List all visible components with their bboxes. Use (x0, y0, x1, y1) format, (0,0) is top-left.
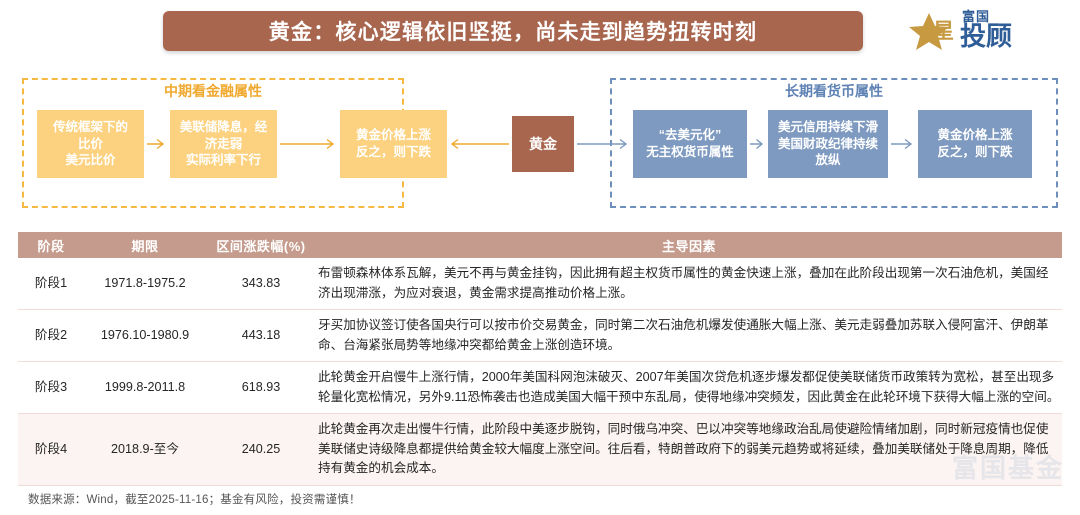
table-row: 阶段1 1971.8-1975.2 343.83 布雷顿森林体系瓦解，美元不再与… (18, 258, 1062, 310)
flow-arrow-center-to-mid (450, 138, 510, 150)
cell-period: 1971.8-1975.2 (84, 258, 206, 310)
page-title: 黄金：核心逻辑依旧坚挺，尚未走到趋势扭转时刻 (269, 16, 757, 46)
column-header-change: 区间涨跌幅(%) (206, 232, 316, 258)
flow-node-long-1-line1: “去美元化” (659, 128, 722, 142)
flow-node-long-3-line2: 反之，则下跌 (937, 145, 1012, 159)
arrow-right-icon (749, 138, 766, 150)
flow-node-mid-3-line1: 黄金价格上涨 (356, 128, 431, 142)
flow-node-mid-2-line1: 美联储降息，经 (180, 120, 268, 134)
flow-node-center-gold: 黄金 (512, 116, 574, 172)
cell-factor: 此轮黄金开启慢牛上涨行情，2000年美国科网泡沫破灭、2007年美国次贷危机逐步… (316, 362, 1062, 414)
table-header-row: 阶段 期限 区间涨跌幅(%) 主导因素 (18, 232, 1062, 258)
arrow-left-icon (450, 138, 510, 150)
flow-arrow-mid-1 (146, 138, 168, 150)
flow-node-long-2-line1: 美元信用持续下滑 (778, 120, 878, 134)
flow-node-mid-2-line2: 济走弱 (205, 137, 243, 151)
flow-node-long-1: “去美元化” 无主权货币属性 (633, 110, 747, 178)
flow-arrow-long-2 (890, 138, 916, 150)
source-footnote: 数据来源：Wind，截至2025-11-16；基金有风险，投资需谨慎！ (28, 491, 361, 507)
logo-brand-large: 投顾 (960, 23, 1012, 49)
cell-change: 240.25 (206, 414, 316, 486)
flow-node-long-2-line3: 放纵 (815, 153, 840, 167)
flow-arrow-center-to-long (576, 138, 631, 150)
brand-logo: 星 富国 投顾 (906, 8, 1066, 54)
flow-node-long-1-line2: 无主权货币属性 (646, 145, 734, 159)
arrow-right-icon (146, 138, 168, 150)
arrow-right-icon (576, 138, 631, 150)
phases-table: 阶段 期限 区间涨跌幅(%) 主导因素 阶段1 1971.8-1975.2 34… (18, 232, 1062, 486)
cell-change: 618.93 (206, 362, 316, 414)
flow-group-mid-term-title: 中期看金融属性 (24, 78, 402, 104)
column-header-stage: 阶段 (18, 232, 84, 258)
flow-diagram: 中期看金融属性 长期看货币属性 传统框架下的 比价 美元比价 美联储降息，经 济… (0, 70, 1080, 215)
flow-node-mid-1-line3: 美元比价 (65, 153, 115, 167)
cell-stage: 阶段2 (18, 310, 84, 362)
cell-period: 1976.10-1980.9 (84, 310, 206, 362)
cell-factor: 布雷顿森林体系瓦解，美元不再与黄金挂钩，因此拥有超主权货币属性的黄金快速上涨，叠… (316, 258, 1062, 310)
title-banner: 黄金：核心逻辑依旧坚挺，尚未走到趋势扭转时刻 (163, 11, 863, 51)
table-header: 阶段 期限 区间涨跌幅(%) 主导因素 (18, 232, 1062, 258)
page-header: 黄金：核心逻辑依旧坚挺，尚未走到趋势扭转时刻 星 富国 投顾 (0, 0, 1080, 68)
table-body: 阶段1 1971.8-1975.2 343.83 布雷顿森林体系瓦解，美元不再与… (18, 258, 1062, 485)
column-header-period: 期限 (84, 232, 206, 258)
flow-node-center-label: 黄金 (529, 135, 557, 154)
flow-node-mid-2: 美联储降息，经 济走弱 实际利率下行 (170, 110, 277, 178)
flow-group-long-term-title: 长期看货币属性 (612, 78, 1056, 104)
cell-factor: 牙买加协议签订使各国央行可以按市价交易黄金，同时第二次石油危机爆发使通胀大幅上涨… (316, 310, 1062, 362)
table-row: 阶段3 1999.8-2011.8 618.93 此轮黄金开启慢牛上涨行情，20… (18, 362, 1062, 414)
flow-node-long-3-line1: 黄金价格上涨 (937, 128, 1012, 142)
cell-stage: 阶段3 (18, 362, 84, 414)
flow-node-mid-1: 传统框架下的 比价 美元比价 (37, 110, 144, 178)
cell-period: 2018.9-至今 (84, 414, 206, 486)
cell-change: 443.18 (206, 310, 316, 362)
flow-arrow-mid-2 (279, 138, 338, 150)
flow-node-mid-3: 黄金价格上涨 反之，则下跌 (340, 110, 447, 178)
cell-period: 1999.8-2011.8 (84, 362, 206, 414)
phases-table-container: 阶段 期限 区间涨跌幅(%) 主导因素 阶段1 1971.8-1975.2 34… (18, 232, 1062, 486)
flow-node-mid-1-line1: 传统框架下的 (53, 120, 128, 134)
cell-stage: 阶段4 (18, 414, 84, 486)
flow-node-long-3: 黄金价格上涨 反之，则下跌 (918, 110, 1032, 178)
arrow-right-icon (279, 138, 338, 150)
flow-node-mid-3-line2: 反之，则下跌 (356, 145, 431, 159)
cell-stage: 阶段1 (18, 258, 84, 310)
table-row: 阶段2 1976.10-1980.9 443.18 牙买加协议签订使各国央行可以… (18, 310, 1062, 362)
logo-xing-char: 星 (933, 21, 954, 42)
flow-node-long-2-line2: 美国财政纪律持续 (778, 137, 878, 151)
flow-node-mid-2-line3: 实际利率下行 (186, 153, 261, 167)
flow-node-long-2: 美元信用持续下滑 美国财政纪律持续 放纵 (768, 110, 888, 178)
column-header-factor: 主导因素 (316, 232, 1062, 258)
flow-arrow-long-1 (749, 138, 766, 150)
flow-node-mid-1-line2: 比价 (78, 137, 103, 151)
table-row: 阶段4 2018.9-至今 240.25 此轮黄金再次走出慢牛行情，此阶段中美逐… (18, 414, 1062, 486)
arrow-right-icon (890, 138, 916, 150)
cell-change: 343.83 (206, 258, 316, 310)
cell-factor: 此轮黄金再次走出慢牛行情，此阶段中美逐步脱钩，同时俄乌冲突、巴以冲突等地缘政治乱… (316, 414, 1062, 486)
